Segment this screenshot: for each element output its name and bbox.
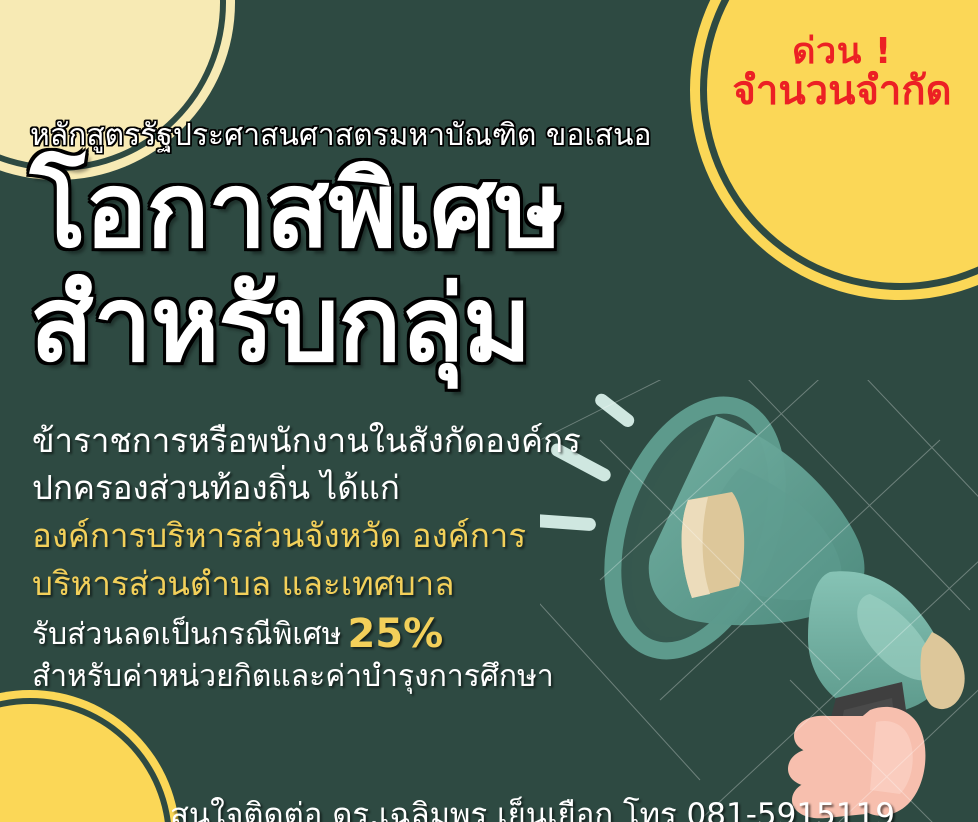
discount-suffix-line: สำหรับค่าหน่วยกิตและค่าบำรุงการศึกษา <box>32 653 554 700</box>
poster-canvas: ด่วน ! จำนวนจำกัด <box>0 0 978 822</box>
body-line-4: บริหารส่วนตำบล และเทศบาล <box>32 557 454 610</box>
decor-circle-bottom-left-outer <box>0 690 180 822</box>
urgent-badge-line2: จำนวนจำกัด <box>712 71 972 112</box>
headline-line-2: สำหรับกลุ่ม <box>30 272 531 376</box>
discount-prefix: รับส่วนลดเป็นกรณีพิเศษ <box>32 617 341 652</box>
body-line-1: ข้าราชการหรือพนักงานในสังกัดองค์กร <box>32 414 581 467</box>
decor-circle-bottom-left-inner <box>0 704 166 822</box>
discount-line: รับส่วนลดเป็นกรณีพิเศษ25% <box>32 611 443 658</box>
megaphone-illustration <box>540 380 978 822</box>
contact-line: สนใจติดต่อ ดร.เฉลิมพร เย็นเยือก โทร 081-… <box>170 789 895 822</box>
urgent-badge: ด่วน ! จำนวนจำกัด <box>712 34 972 112</box>
headline-line-1: โอกาสพิเศษ <box>30 158 563 262</box>
body-line-2: ปกครองส่วนท้องถิ่น ได้แก่ <box>32 461 400 514</box>
discount-percent: 25% <box>347 611 443 657</box>
urgent-badge-line1: ด่วน ! <box>712 34 972 71</box>
decor-circle-bottom-left-gap <box>0 698 172 822</box>
body-line-3: องค์การบริหารส่วนจังหวัด องค์การ <box>32 509 526 562</box>
